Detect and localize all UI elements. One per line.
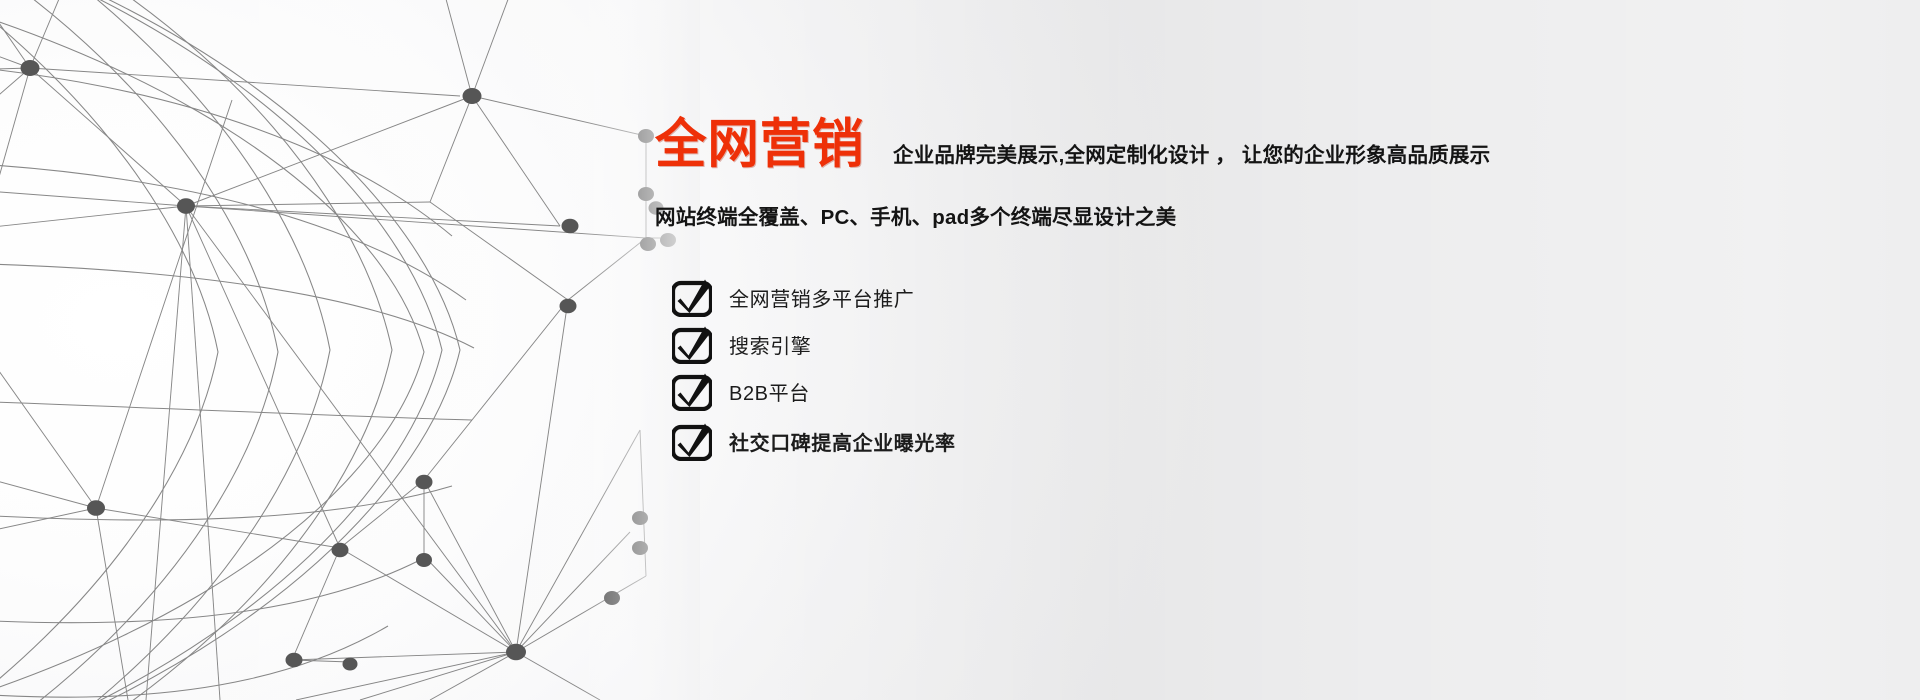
list-item-label: B2B平台 bbox=[729, 377, 810, 406]
list-item: 全网营销多平台推广 bbox=[672, 275, 956, 319]
marketing-banner: 全网营销 企业品牌完美展示,全网定制化设计 ， 让您的企业形象高品质展示 网站终… bbox=[0, 0, 1920, 700]
network-sphere-graphic bbox=[0, 0, 700, 700]
banner-content: 全网营销 企业品牌完美展示,全网定制化设计 ， 让您的企业形象高品质展示 网站终… bbox=[655, 0, 1885, 700]
list-item-label: 社交口碑提高企业曝光率 bbox=[729, 427, 956, 456]
list-item: B2B平台 bbox=[672, 369, 956, 413]
checkbox-checked-icon bbox=[672, 277, 712, 317]
subheadline: 网站终端全覆盖、PC、手机、pad多个终端尽显设计之美 bbox=[655, 200, 1176, 230]
checkbox-checked-icon bbox=[672, 324, 712, 364]
checkbox-checked-icon bbox=[672, 421, 712, 461]
list-item: 社交口碑提高企业曝光率 bbox=[672, 419, 956, 463]
checkbox-checked-icon bbox=[672, 371, 712, 411]
list-item-label: 全网营销多平台推广 bbox=[729, 283, 914, 312]
headline-tagline: 企业品牌完美展示,全网定制化设计 ， 让您的企业形象高品质展示 bbox=[893, 146, 1490, 172]
list-item-label: 搜索引擎 bbox=[729, 330, 811, 359]
list-item: 搜索引擎 bbox=[672, 322, 956, 366]
page-title: 全网营销 bbox=[655, 118, 865, 171]
headline-row: 全网营销 企业品牌完美展示,全网定制化设计 ， 让您的企业形象高品质展示 bbox=[655, 118, 1490, 171]
feature-list: 全网营销多平台推广 搜索引擎 B2B平台 bbox=[672, 275, 956, 466]
